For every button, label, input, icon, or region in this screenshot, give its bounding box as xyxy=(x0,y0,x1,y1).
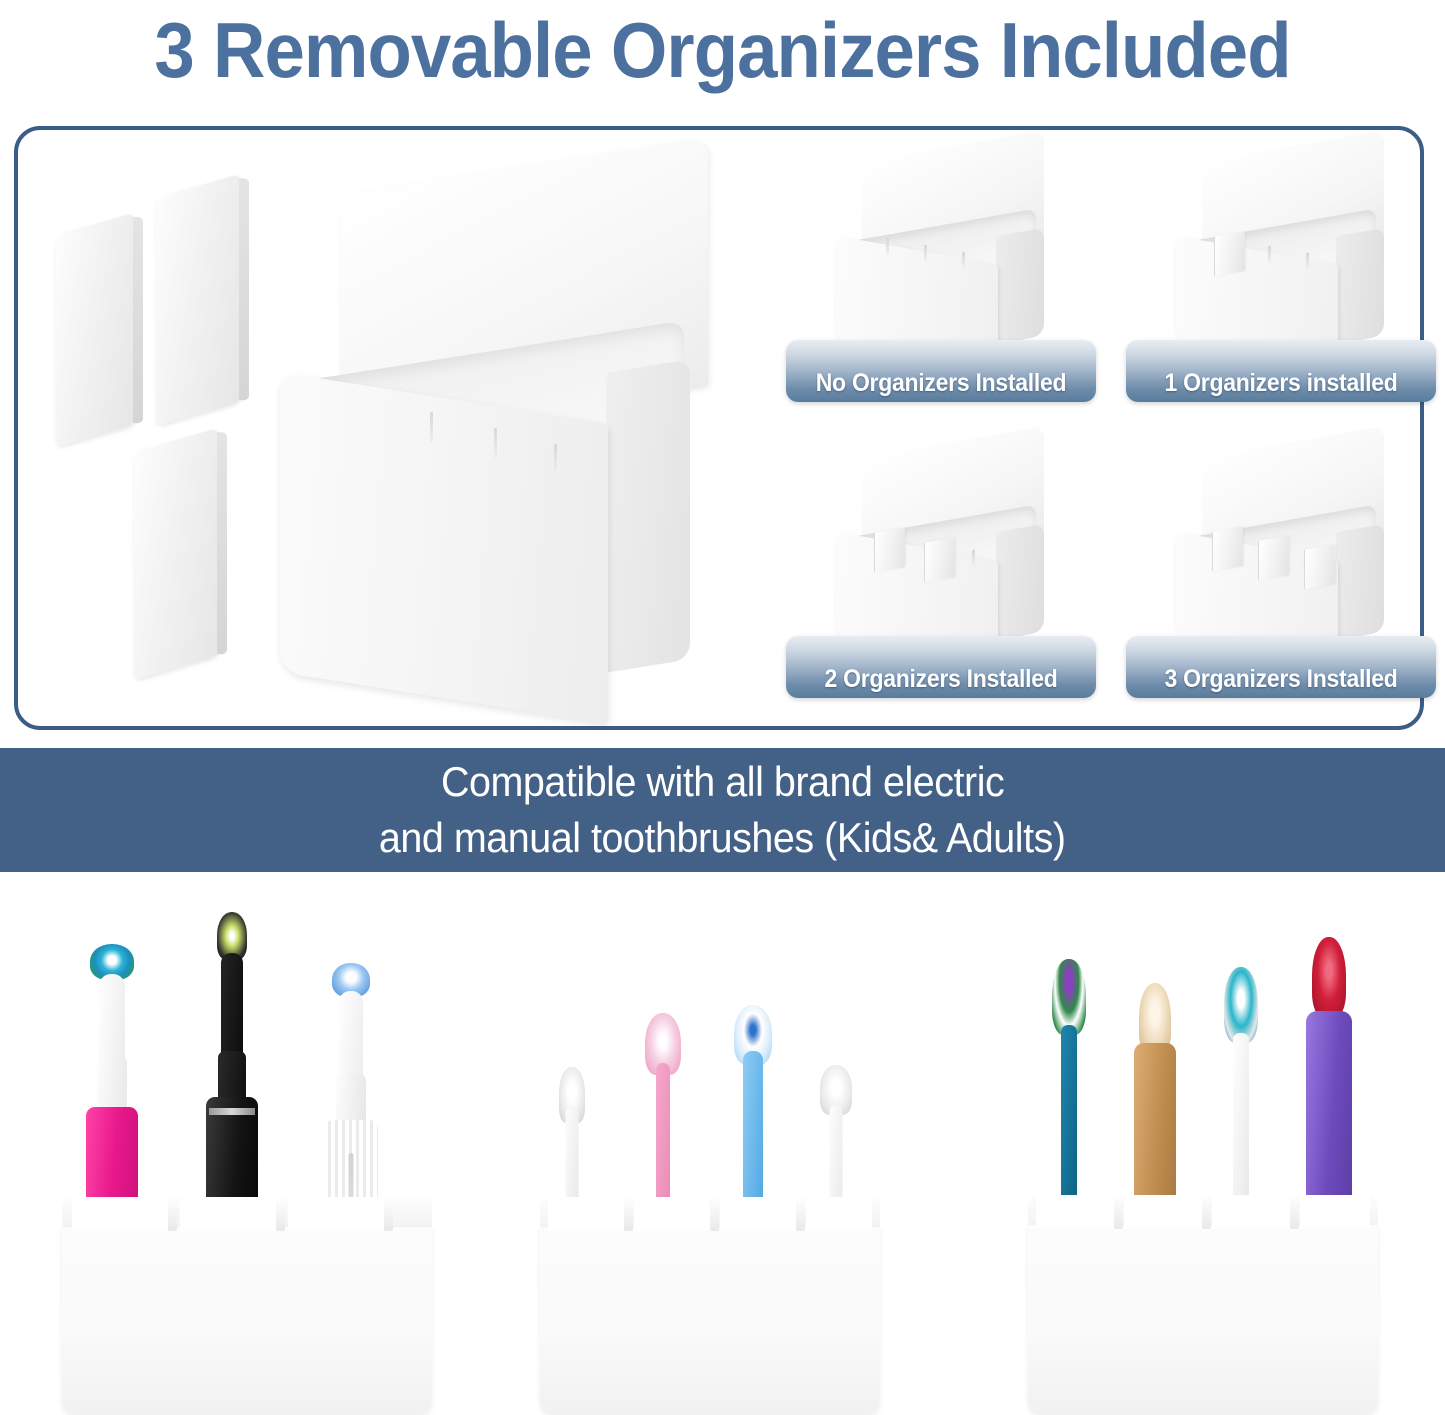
variant-badge-1: 1 Organizers installed xyxy=(1126,340,1436,402)
variant-one-organizer: 1 Organizers installed xyxy=(1126,144,1436,412)
banner-line-1: Compatible with all brand electric xyxy=(441,754,1004,810)
holder-thumbnail-0 xyxy=(828,144,1060,362)
organizer-panel-3 xyxy=(134,428,218,680)
showcase-electric-toothbrushes xyxy=(62,885,432,1415)
variant-badge-3: 3 Organizers Installed xyxy=(1126,636,1436,698)
variant-label-2: 2 Organizers Installed xyxy=(798,665,1083,694)
product-infographic: 3 Removable Organizers Included xyxy=(0,0,1445,1415)
holder-thumbnail-1 xyxy=(1168,144,1400,362)
organizer-panel-1 xyxy=(56,213,134,447)
variant-three-organizers: 3 Organizers Installed xyxy=(1126,440,1436,708)
page-title: 3 Removable Organizers Included xyxy=(51,2,1395,98)
compatibility-banner: Compatible with all brand electric and m… xyxy=(0,748,1445,872)
variant-badge-0: No Organizers Installed xyxy=(786,340,1096,402)
variant-label-3: 3 Organizers Installed xyxy=(1138,665,1423,694)
variant-no-organizers: No Organizers Installed xyxy=(786,144,1096,412)
holder-slot-3 xyxy=(554,444,557,474)
showcase-kids-toothbrushes xyxy=(540,995,880,1415)
variant-badge-2: 2 Organizers Installed xyxy=(786,636,1096,698)
holder-box-electric xyxy=(62,1197,432,1415)
banner-line-2: and manual toothbrushes (Kids& Adults) xyxy=(379,810,1066,866)
exploded-product-illustration xyxy=(34,138,774,728)
variant-label-0: No Organizers Installed xyxy=(798,369,1083,398)
holder-thumbnail-3 xyxy=(1168,440,1400,658)
holder-thumbnail-2 xyxy=(828,440,1060,658)
usage-showcase: CURAPROX xyxy=(0,872,1445,1415)
holder-box-manual xyxy=(1028,1195,1378,1415)
variant-label-1: 1 Organizers installed xyxy=(1138,369,1423,398)
variant-two-organizers: 2 Organizers Installed xyxy=(786,440,1096,708)
holder-front-face xyxy=(280,372,608,724)
product-showcase-frame: No Organizers Installed 1 Organizers ins… xyxy=(14,126,1424,730)
holder-side-face xyxy=(606,359,690,672)
holder-slot-2 xyxy=(494,428,497,458)
showcase-manual-toothbrushes: CURAPROX xyxy=(1028,893,1378,1415)
organizer-panel-2 xyxy=(156,174,240,426)
main-holder-body xyxy=(262,166,722,711)
holder-box-kids xyxy=(540,1197,880,1415)
holder-slot-1 xyxy=(430,412,433,442)
